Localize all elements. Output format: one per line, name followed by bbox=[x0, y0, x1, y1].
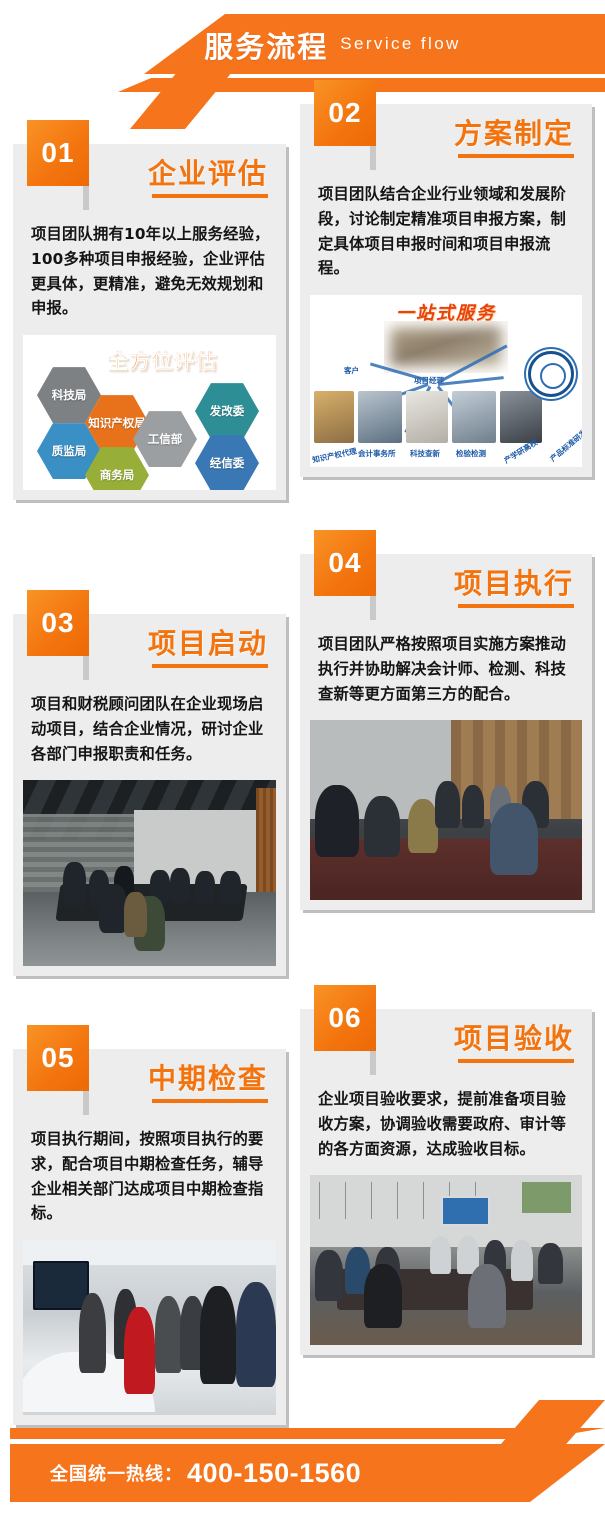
step-body-06: 企业项目验收要求，提前准备项目验收方案，协调验收需要政府、审计等的各方面资源，达… bbox=[300, 1083, 592, 1175]
step-body-02: 项目团队结合企业行业领域和发展阶段，讨论制定精准项目申报方案，制定具体项目申报时… bbox=[300, 178, 592, 295]
step-number-04: 04 bbox=[314, 530, 376, 596]
title-underline-06 bbox=[458, 1059, 574, 1063]
step-number-05: 05 bbox=[27, 1025, 89, 1091]
onestop-service-3: 科技查新 bbox=[410, 448, 440, 459]
card-header-01: 01 企业评估 bbox=[13, 144, 286, 218]
step-card-02[interactable]: 02 方案制定 项目团队结合企业行业领域和发展阶段，讨论制定精准项目申报方案，制… bbox=[300, 104, 592, 477]
card-header-02: 02 方案制定 bbox=[300, 104, 592, 178]
step-media-06 bbox=[300, 1175, 592, 1355]
step-title-05: 中期检查 bbox=[148, 1057, 268, 1097]
title-underline-02 bbox=[458, 154, 574, 158]
title-underline-04 bbox=[458, 604, 574, 608]
title-underline-01 bbox=[152, 194, 268, 198]
step-media-05 bbox=[13, 1240, 286, 1425]
onestop-diagram: 一站式服务 客户 项目经理 bbox=[310, 295, 582, 467]
step-card-06[interactable]: 06 项目验收 企业项目验收要求，提前准备项目验收方案，协调验收需要政府、审计等… bbox=[300, 1009, 592, 1355]
steps-row-1: 01 企业评估 项目团队拥有10年以上服务经验，100多种项目申报经验，企业评估… bbox=[0, 104, 605, 554]
hex-node-jxw: 经信委 bbox=[195, 435, 259, 490]
steps-row-3: 05 中期检查 项目执行期间，按照项目执行的要求，配合项目中期检查任务，辅导企业… bbox=[0, 1009, 605, 1439]
title-underline-05 bbox=[152, 1099, 268, 1103]
photo-showroom-visit bbox=[23, 1240, 276, 1415]
step-number-01: 01 bbox=[27, 120, 89, 186]
hotline-label: 全国统一热线： bbox=[50, 1460, 183, 1486]
step-card-03[interactable]: 03 项目启动 项目和财税顾问团队在企业现场启动项目，结合企业情况，研讨企业各部… bbox=[13, 614, 286, 976]
title-underline-03 bbox=[152, 664, 268, 668]
steps-row-2: 03 项目启动 项目和财税顾问团队在企业现场启动项目，结合企业情况，研讨企业各部… bbox=[0, 554, 605, 1009]
photo-team-meeting bbox=[310, 720, 582, 900]
hex-diagram: 全方位评估 科技局 知识产权局 发改委 质监局 工信部 经信委 商务局 bbox=[23, 335, 276, 490]
hex-node-fgw: 发改委 bbox=[195, 383, 259, 439]
step-number-02: 02 bbox=[314, 80, 376, 146]
photo-conference-room bbox=[23, 780, 276, 966]
step-title-06: 项目验收 bbox=[454, 1017, 574, 1057]
onestop-thumb-3 bbox=[406, 391, 448, 443]
step-number-03: 03 bbox=[27, 590, 89, 656]
step-title-04: 项目执行 bbox=[454, 562, 574, 602]
onestop-iso-seal-icon bbox=[528, 351, 574, 397]
card-header-03: 03 项目启动 bbox=[13, 614, 286, 688]
onestop-service-6: 产品标准研发 bbox=[548, 427, 582, 464]
card-header-06: 06 项目验收 bbox=[300, 1009, 592, 1083]
header-title-group: 服务流程 Service flow bbox=[0, 22, 605, 68]
step-media-02: 一站式服务 客户 项目经理 bbox=[300, 295, 592, 477]
step-title-01: 企业评估 bbox=[148, 152, 268, 192]
photo-large-meeting bbox=[310, 1175, 582, 1345]
step-body-04: 项目团队严格按照项目实施方案推动执行并协助解决会计师、检测、科技查新等更方面第三… bbox=[300, 628, 592, 720]
onestop-service-2: 会计事务所 bbox=[358, 448, 396, 459]
onestop-thumb-1 bbox=[314, 391, 354, 443]
hotline-number[interactable]: 400-150-1560 bbox=[187, 1458, 361, 1489]
card-header-04: 04 项目执行 bbox=[300, 554, 592, 628]
onestop-hub-photo bbox=[384, 321, 508, 373]
onestop-client-label: 客户 bbox=[344, 365, 359, 376]
page-header: 服务流程 Service flow bbox=[0, 0, 605, 108]
page-footer: 全国统一热线： 400-150-1560 bbox=[0, 1418, 605, 1538]
onestop-service-1: 知识产权代理 bbox=[311, 446, 357, 466]
onestop-thumb-4 bbox=[452, 391, 496, 443]
step-media-01: 全方位评估 科技局 知识产权局 发改委 质监局 工信部 经信委 商务局 bbox=[13, 335, 286, 500]
step-title-03: 项目启动 bbox=[148, 622, 268, 662]
onestop-thumb-2 bbox=[358, 391, 402, 443]
step-title-02: 方案制定 bbox=[454, 112, 574, 152]
footer-hotline: 全国统一热线： 400-150-1560 bbox=[50, 1444, 361, 1502]
step-body-01: 项目团队拥有10年以上服务经验，100多种项目申报经验，企业评估更具体，更精准，… bbox=[13, 218, 286, 335]
onestop-thumb-5 bbox=[500, 391, 542, 443]
page-subtitle: Service flow bbox=[340, 34, 460, 56]
step-card-01[interactable]: 01 企业评估 项目团队拥有10年以上服务经验，100多种项目申报经验，企业评估… bbox=[13, 144, 286, 500]
step-body-03: 项目和财税顾问团队在企业现场启动项目，结合企业情况，研讨企业各部门申报职责和任务… bbox=[13, 688, 286, 780]
page-title: 服务流程 bbox=[204, 24, 328, 66]
step-body-05: 项目执行期间，按照项目执行的要求，配合项目中期检查任务，辅导企业相关部门达成项目… bbox=[13, 1123, 286, 1240]
step-number-06: 06 bbox=[314, 985, 376, 1051]
onestop-service-4: 检验检测 bbox=[456, 448, 486, 459]
steps-grid: 01 企业评估 项目团队拥有10年以上服务经验，100多种项目申报经验，企业评估… bbox=[0, 104, 605, 1439]
step-media-03 bbox=[13, 780, 286, 976]
step-card-04[interactable]: 04 项目执行 项目团队严格按照项目实施方案推动执行并协助解决会计师、检测、科技… bbox=[300, 554, 592, 910]
step-media-04 bbox=[300, 720, 592, 910]
hex-diagram-title: 全方位评估 bbox=[107, 345, 217, 375]
card-header-05: 05 中期检查 bbox=[13, 1049, 286, 1123]
step-card-05[interactable]: 05 中期检查 项目执行期间，按照项目执行的要求，配合项目中期检查任务，辅导企业… bbox=[13, 1049, 286, 1425]
header-banner-thin-band bbox=[0, 78, 605, 92]
